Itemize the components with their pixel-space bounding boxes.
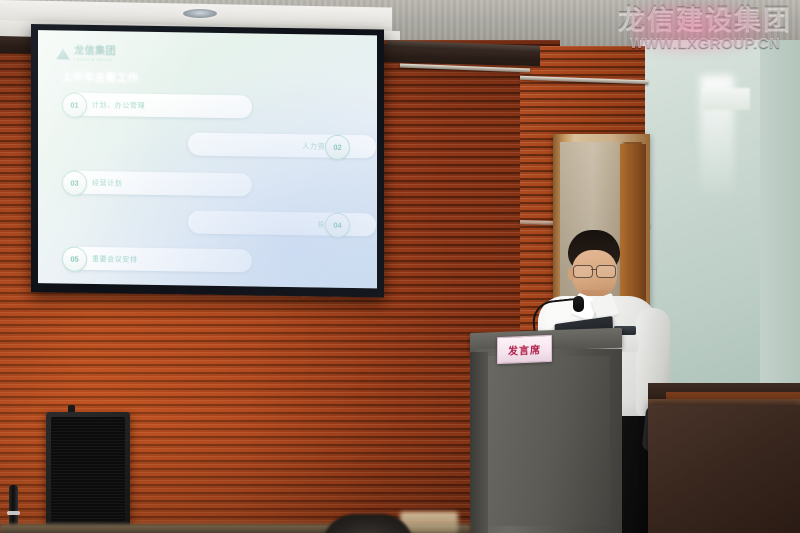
- glasses-bridge: [591, 269, 597, 270]
- company-logo-icon: [56, 48, 70, 59]
- agenda-item-label: 重要会议安排: [92, 253, 138, 264]
- slide-logo: 龙信集团 LONGXIN GROUP: [56, 46, 116, 62]
- list-item: 计划、办公管理: [66, 93, 252, 119]
- slide-agenda-list: 计划、办公管理 01 人力资源管理 02 经营计划 03 投资建设 04 重要会…: [38, 86, 377, 281]
- slide-title: 上半年主要工作: [62, 68, 139, 84]
- wall-light-fixture: [702, 88, 750, 110]
- list-item: 经营计划: [66, 171, 252, 197]
- agenda-item-number: 02: [325, 135, 350, 160]
- speaker-grill: [51, 417, 125, 522]
- podium-front-panel: [484, 356, 610, 526]
- agenda-item-number: 05: [62, 246, 87, 271]
- agenda-item-number: 03: [62, 170, 87, 195]
- projection-screen-frame: 龙信集团 LONGXIN GROUP 上半年主要工作 计划、办公管理 01 人力…: [31, 24, 384, 298]
- agenda-item-number: 01: [62, 92, 87, 117]
- slide-logo-subtext: LONGXIN GROUP: [74, 58, 116, 62]
- projection-screen: 龙信集团 LONGXIN GROUP 上半年主要工作 计划、办公管理 01 人力…: [38, 30, 377, 288]
- wall-speaker: [46, 412, 130, 527]
- conference-room-photo: 龙信集团 LONGXIN GROUP 上半年主要工作 计划、办公管理 01 人力…: [0, 0, 800, 533]
- podium-name-card: 发言席: [497, 335, 552, 364]
- microphone-head-icon: [573, 296, 584, 312]
- agenda-item-number: 04: [325, 213, 350, 238]
- glasses-icon: [572, 265, 618, 277]
- agenda-item-label: 经营计划: [92, 177, 122, 187]
- agenda-item-label: 计划、办公管理: [92, 99, 145, 110]
- name-card-label: 发言席: [508, 341, 541, 357]
- podium-side-panel: [470, 352, 488, 533]
- list-item: 重要会议安排: [66, 247, 252, 273]
- ceiling-light-icon: [183, 9, 217, 18]
- slide-logo-text: 龙信集团: [74, 47, 116, 58]
- side-table: [648, 405, 800, 533]
